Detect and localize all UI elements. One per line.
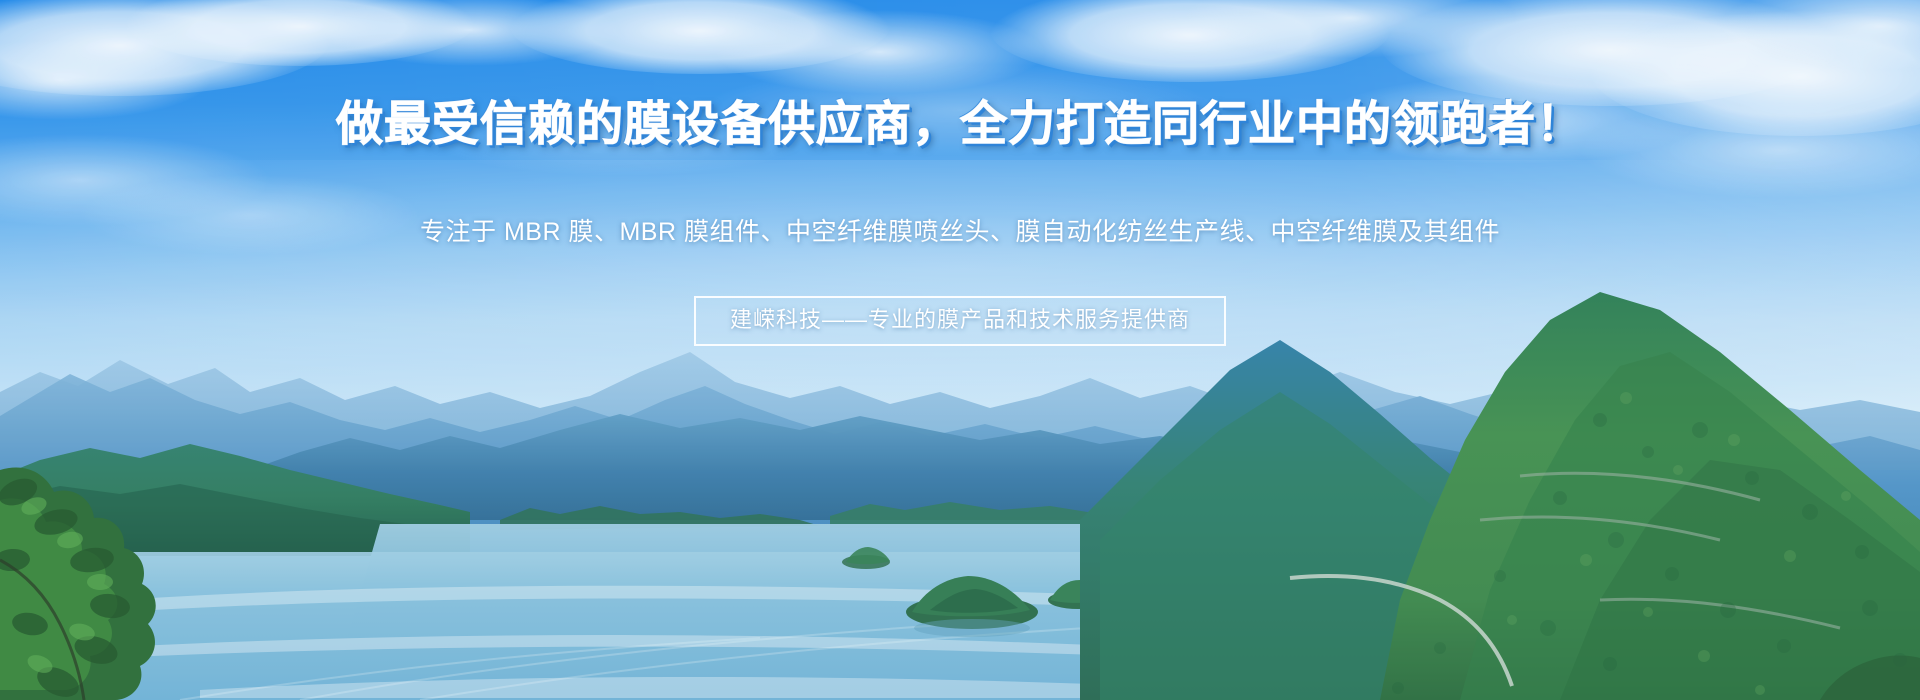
- hero-banner: 做最受信赖的膜设备供应商，全力打造同行业中的领跑者！ 专注于 MBR 膜、MBR…: [0, 0, 1920, 700]
- landscape-photo: [0, 0, 1920, 700]
